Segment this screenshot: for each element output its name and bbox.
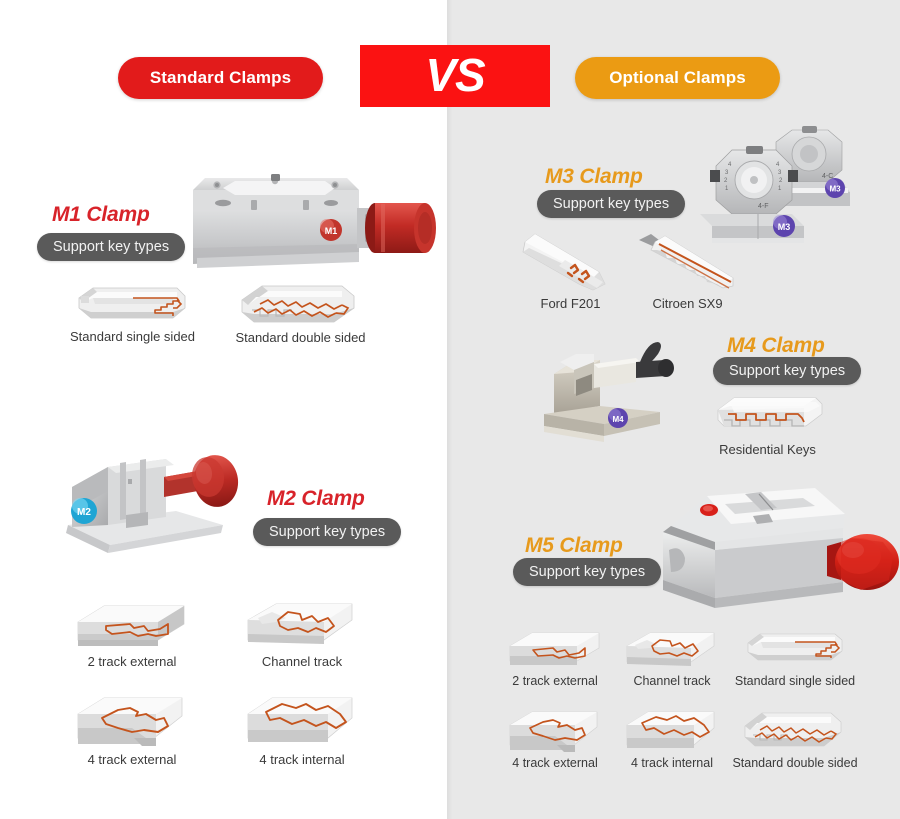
m2-support-key-types-label: Support key types xyxy=(253,518,401,546)
m2-clamp-illustration: M2 xyxy=(48,433,263,558)
m1-key-0-label: Standard single sided xyxy=(60,329,205,344)
svg-text:M3: M3 xyxy=(829,185,841,194)
four-track-internal-key-icon xyxy=(242,694,362,750)
m3-clamp-title: M3 Clamp xyxy=(545,165,643,189)
m3-key-1-label: Citroen SX9 xyxy=(625,296,750,311)
m4-key-0: Residential Keys xyxy=(700,392,835,457)
m4-clamp-device-image: M4 xyxy=(540,340,700,455)
m1-clamp-device-image: M1 xyxy=(175,168,440,283)
two-track-external-key-icon xyxy=(505,628,605,672)
m5-key-0: 2 track external xyxy=(496,628,614,688)
four-track-external-key-icon xyxy=(72,694,192,750)
m1-key-1-label: Standard double sided xyxy=(228,330,373,345)
m1-support-key-types-label: Support key types xyxy=(37,233,185,261)
m5-key-1: Channel track xyxy=(613,628,731,688)
m2-key-0-label: 2 track external xyxy=(62,654,202,669)
ford-f201-key-icon xyxy=(521,232,621,294)
vs-badge: VS xyxy=(360,45,550,107)
m3-support-key-types-label: Support key types xyxy=(537,190,685,218)
m2-key-1-label: Channel track xyxy=(232,654,372,669)
m5-clamp-illustration xyxy=(655,480,900,615)
svg-text:M4: M4 xyxy=(612,415,624,424)
m1-clamp-title: M1 Clamp xyxy=(52,203,150,227)
m2-key-1: Channel track xyxy=(232,598,372,669)
m5-key-3-label: 4 track external xyxy=(496,756,614,770)
four-track-external-key-icon xyxy=(505,708,605,754)
m1-key-1: Standard double sided xyxy=(228,278,373,345)
m5-key-5-label: Standard double sided xyxy=(730,756,860,770)
comparison-infographic: Standard Clamps VS Optional Clamps xyxy=(0,0,900,819)
m5-key-4: 4 track internal xyxy=(613,708,731,770)
citroen-sx9-key-icon xyxy=(635,232,740,294)
residential-key-icon xyxy=(708,392,828,440)
channel-track-key-icon xyxy=(622,628,722,672)
m2-clamp-title: M2 Clamp xyxy=(267,487,365,511)
m3-clamp-illustration: 4-C M3 4321 4321 4-F xyxy=(692,126,897,244)
m1-key-0: Standard single sided xyxy=(60,282,205,344)
m4-support-key-types-label: Support key types xyxy=(713,357,861,385)
svg-text:M3: M3 xyxy=(778,222,791,232)
m2-key-3: 4 track internal xyxy=(232,694,372,767)
single-sided-key-icon xyxy=(743,628,848,672)
m5-key-0-label: 2 track external xyxy=(496,674,614,688)
m2-key-0: 2 track external xyxy=(62,600,202,669)
four-track-internal-key-icon xyxy=(622,708,722,754)
standard-clamps-header-badge: Standard Clamps xyxy=(118,57,323,99)
panel-divider xyxy=(447,0,453,819)
m5-clamp-title: M5 Clamp xyxy=(525,534,623,558)
single-sided-key-icon xyxy=(73,282,193,327)
m5-clamp-device-image xyxy=(655,480,900,620)
m5-key-4-label: 4 track internal xyxy=(613,756,731,770)
m2-clamp-device-image: M2 xyxy=(48,433,263,563)
double-sided-key-icon xyxy=(238,278,363,328)
m5-key-2: Standard single sided xyxy=(730,628,860,688)
m5-key-2-label: Standard single sided xyxy=(730,674,860,688)
svg-text:4-F: 4-F xyxy=(758,203,769,210)
channel-track-key-icon xyxy=(242,598,362,652)
double-sided-key-icon xyxy=(741,706,849,754)
optional-clamps-header-label: Optional Clamps xyxy=(609,68,746,88)
svg-text:M2: M2 xyxy=(77,507,91,518)
standard-clamps-header-label: Standard Clamps xyxy=(150,68,291,88)
m3-key-0: Ford F201 xyxy=(508,232,633,311)
m3-key-0-label: Ford F201 xyxy=(508,296,633,311)
m5-key-3: 4 track external xyxy=(496,708,614,770)
m1-clamp-illustration: M1 xyxy=(175,168,440,278)
svg-text:M1: M1 xyxy=(325,226,338,236)
m3-clamp-device-image: 4-C M3 4321 4321 4-F xyxy=(692,126,897,249)
m3-key-1: Citroen SX9 xyxy=(625,232,750,311)
two-track-external-key-icon xyxy=(72,600,192,652)
m2-key-2-label: 4 track external xyxy=(62,752,202,767)
m2-key-3-label: 4 track internal xyxy=(232,752,372,767)
m4-key-0-label: Residential Keys xyxy=(700,442,835,457)
m5-key-1-label: Channel track xyxy=(613,674,731,688)
m4-clamp-illustration: M4 xyxy=(540,340,700,450)
m2-key-2: 4 track external xyxy=(62,694,202,767)
vs-label: VS xyxy=(425,52,484,98)
optional-clamps-header-badge: Optional Clamps xyxy=(575,57,780,99)
m4-clamp-title: M4 Clamp xyxy=(727,334,825,358)
m5-key-5: Standard double sided xyxy=(730,706,860,770)
m5-support-key-types-label: Support key types xyxy=(513,558,661,586)
